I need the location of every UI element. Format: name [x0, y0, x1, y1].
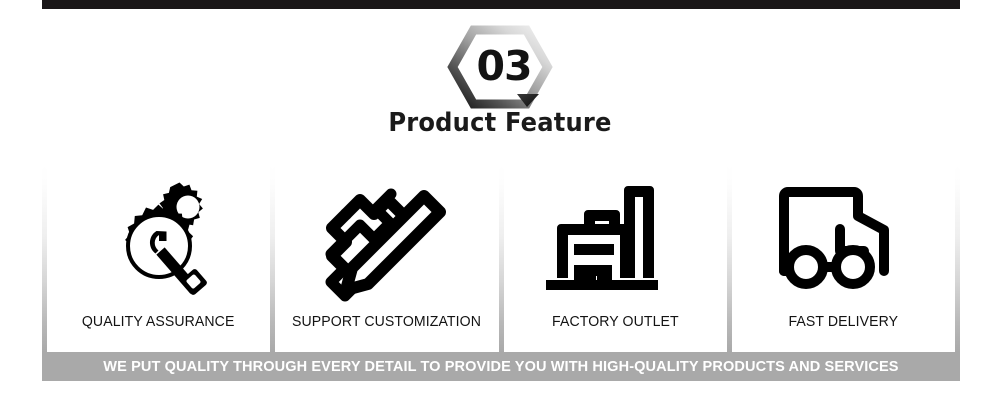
feature-label: FAST DELIVERY [789, 313, 899, 330]
gear-magnifier-wrench-icon [84, 174, 234, 304]
delivery-truck-icon [768, 174, 918, 304]
feature-card-factory-outlet[interactable]: FACTORY OUTLET [504, 165, 727, 352]
feature-card-support-customization[interactable]: SUPPORT CUSTOMIZATION [275, 165, 498, 352]
icon-container [732, 165, 955, 313]
factory-building-icon [540, 174, 690, 304]
bottom-banner: WE PUT QUALITY THROUGH EVERY DETAIL TO P… [42, 352, 960, 381]
feature-card-quality-assurance[interactable]: QUALITY ASSURANCE [47, 165, 270, 352]
icon-container [275, 165, 498, 313]
icon-container [47, 165, 270, 313]
feature-label: QUALITY ASSURANCE [82, 313, 235, 330]
divider-right [955, 165, 960, 352]
page-title: Product Feature [35, 108, 965, 138]
icon-container [504, 165, 727, 313]
feature-card-fast-delivery[interactable]: FAST DELIVERY [732, 165, 955, 352]
top-rule [42, 0, 960, 9]
badge-number: 03 [451, 24, 557, 108]
feature-label: SUPPORT CUSTOMIZATION [292, 313, 481, 330]
banner-text: WE PUT QUALITY THROUGH EVERY DETAIL TO P… [103, 358, 898, 375]
badge-container: 03 [0, 24, 1000, 110]
feature-label: FACTORY OUTLET [552, 313, 679, 330]
section-number-badge: 03 [447, 25, 553, 109]
pencil-wrench-cross-icon [312, 174, 462, 304]
product-feature-slide: 03 Product Feature [0, 0, 1000, 409]
feature-card-strip: QUALITY ASSURANCE [42, 165, 960, 352]
